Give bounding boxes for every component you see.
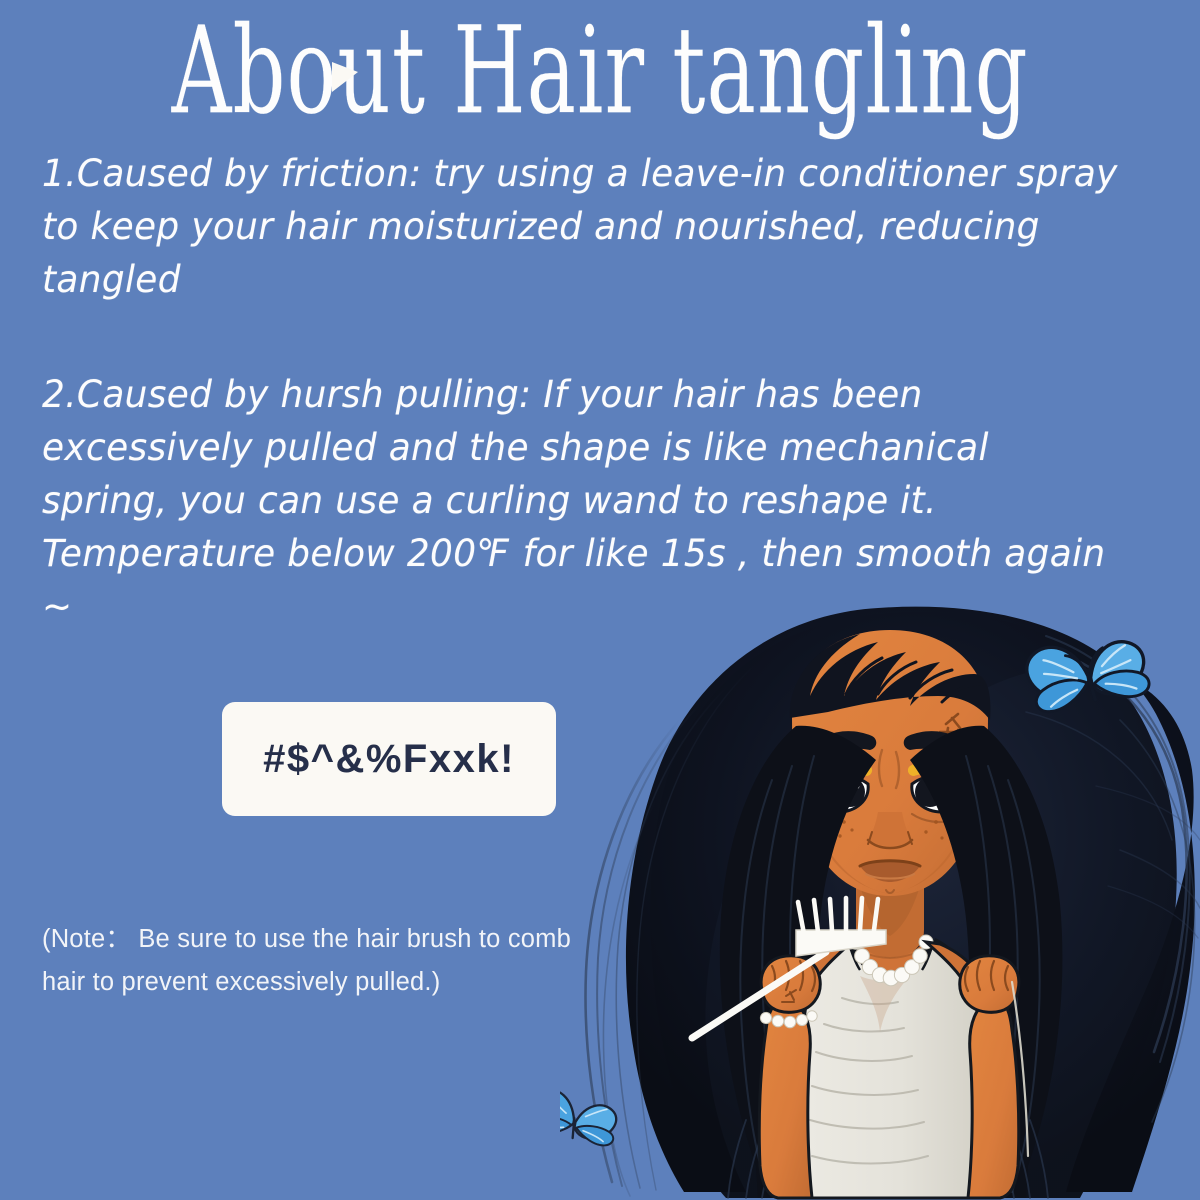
speech-bubble-tail <box>332 62 358 92</box>
character-illustration <box>560 600 1200 1200</box>
poster-canvas: About Hair tangling 1.Caused by friction… <box>0 0 1200 1200</box>
speech-bubble-text: #$^&%Fxxk! <box>222 702 556 816</box>
speech-bubble: #$^&%Fxxk! <box>222 702 556 816</box>
page-title: About Hair tangling <box>120 6 1080 136</box>
note-text: (Note： Be sure to use the hair brush to … <box>42 918 582 1004</box>
paragraph-caused-by-harsh-pulling: 2.Caused by hursh pulling: If your hair … <box>42 368 1116 633</box>
fist-right <box>960 956 1019 1013</box>
paragraph-caused-by-friction: 1.Caused by friction: try using a leave-… <box>42 147 1121 306</box>
butterfly-blue-bottom-left <box>560 1087 620 1147</box>
